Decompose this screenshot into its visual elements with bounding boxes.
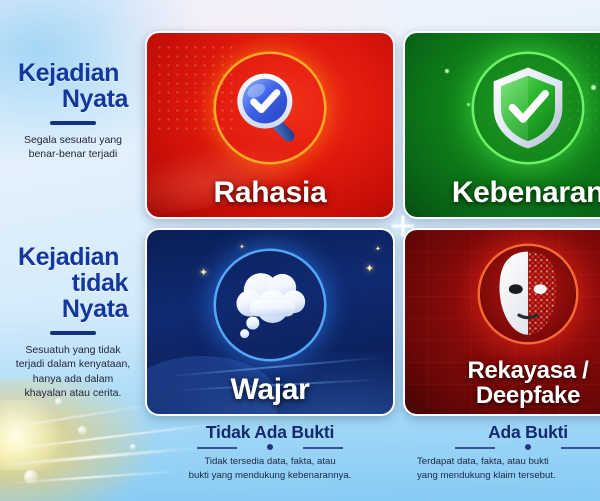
card-rahasia[interactable]: Rahasia	[145, 31, 395, 219]
card-label: Wajar	[147, 375, 393, 406]
card-label: Rekayasa / Deepfake	[405, 359, 600, 408]
legend-description: Segala sesuatu yangbenar-benar terjadi	[6, 133, 140, 162]
caption-line1: Terdapat data, fakta, atau bukti	[403, 455, 600, 469]
magnifier-check-icon	[147, 49, 393, 167]
bottom-captions: Tidak Ada Bukti Tidak tersedia data, fak…	[145, 423, 600, 501]
deepfake-mask-icon	[405, 240, 600, 348]
thought-cloud-icon	[147, 246, 393, 364]
card-wajar[interactable]: ✦ ✦ ✦ ✦	[145, 228, 395, 416]
caption-divider	[145, 443, 395, 453]
caption-title: Tidak Ada Bukti	[145, 423, 395, 442]
card-label: Rahasia	[147, 178, 393, 209]
card-label-line2: Deepfake	[405, 384, 600, 408]
legend-title-line1: Kejadian	[6, 60, 140, 86]
caption-tidak-ada-bukti: Tidak Ada Bukti Tidak tersedia data, fak…	[145, 423, 395, 482]
legend-title-line2: tidak Nyata	[6, 270, 140, 322]
shield-check-icon	[405, 49, 600, 167]
card-kebenaran[interactable]: Kebenaran	[403, 31, 600, 219]
legend-divider	[50, 121, 96, 125]
quadrant-card-grid: Rahasia	[145, 31, 600, 419]
card-rekayasa-deepfake[interactable]: Rekayasa / Deepfake	[403, 228, 600, 416]
caption-line2: bukti yang mendukung kebenarannya.	[145, 469, 395, 483]
card-label: Kebenaran	[405, 178, 600, 209]
card-label-line1: Rekayasa /	[405, 359, 600, 383]
center-sparkle-icon	[392, 215, 414, 237]
infographic-canvas: Kejadian Nyata Segala sesuatu yangbenar-…	[0, 0, 600, 501]
caption-ada-bukti: Ada Bukti Terdapat data, fakta, atau buk…	[403, 423, 600, 482]
legend-section-unreal: Kejadian tidak Nyata Sesuatuh yang tidak…	[0, 244, 146, 401]
left-legend-column: Kejadian Nyata Segala sesuatu yangbenar-…	[0, 0, 146, 501]
caption-line1: Tidak tersedia data, fakta, atau	[145, 455, 395, 469]
caption-title: Ada Bukti	[403, 423, 600, 442]
caption-line2: yang mendukung klaim tersebut.	[403, 469, 600, 483]
legend-title-line2: Nyata	[6, 86, 140, 112]
caption-divider	[403, 443, 600, 453]
legend-title-line1: Kejadian	[6, 244, 140, 270]
legend-description: Sesuatuh yang tidakterjadi dalam kenyata…	[6, 343, 140, 401]
legend-divider	[50, 331, 96, 335]
legend-section-real: Kejadian Nyata Segala sesuatu yangbenar-…	[0, 60, 146, 162]
